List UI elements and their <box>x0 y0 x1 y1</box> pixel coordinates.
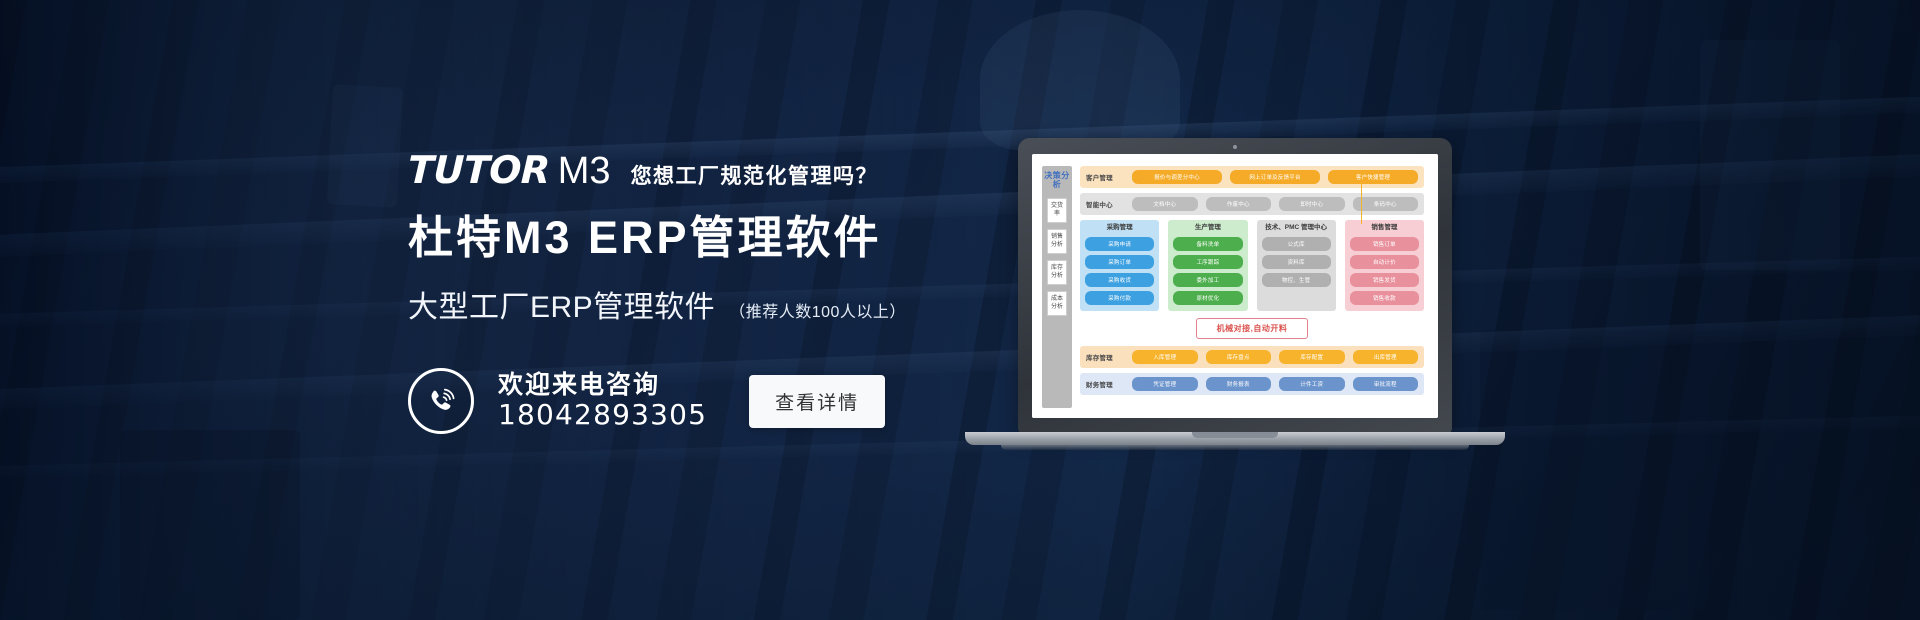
erp-chip: 财务报表 <box>1206 377 1272 391</box>
erp-chip-group: 报价与调差分中心 网上订单及反馈平台 客户快捷管理 <box>1132 170 1418 184</box>
banner-content: TUTOR M3 您想工厂规范化管理吗？ 杜特M3 ERP管理软件 大型工厂ER… <box>0 0 1920 620</box>
erp-chip: 库存盘点 <box>1206 350 1272 364</box>
page-title: 杜特M3 ERP管理软件 <box>408 211 1048 264</box>
erp-module-item: 采购订单 <box>1085 255 1154 269</box>
logo-wordmark: TUTOR <box>407 148 550 192</box>
erp-row-label: 智能中心 <box>1086 199 1124 209</box>
laptop-lid: 决策分析 交货率 销售分析 库存分析 成本分析 客户管理 报价与调差分 <box>1018 138 1452 434</box>
phone-number[interactable]: 18042893305 <box>498 399 707 430</box>
erp-module-item: 物控、生管 <box>1262 273 1331 287</box>
brand-tagline: 您想工厂规范化管理吗？ <box>631 160 879 190</box>
erp-chip: 网上订单及反馈平台 <box>1230 170 1320 184</box>
subhead-main-text: 大型工厂ERP管理软件 <box>408 282 715 326</box>
erp-row-customer: 客户管理 报价与调差分中心 网上订单及反馈平台 客户快捷管理 <box>1080 166 1424 188</box>
hero-banner: TUTOR M3 您想工厂规范化管理吗？ 杜特M3 ERP管理软件 大型工厂ER… <box>0 0 1920 620</box>
phone-label: 欢迎来电咨询 <box>498 371 707 399</box>
cta-row: 欢迎来电咨询 18042893305 查看详情 <box>408 368 1048 434</box>
erp-chip-group: 凭证管理 财务报表 计件工资 审批流程 <box>1132 377 1418 391</box>
erp-chip: 入库管理 <box>1132 350 1198 364</box>
hero-subhead: 大型工厂ERP管理软件 （推荐人数100人以上） <box>408 282 1048 326</box>
erp-column-title: 技术、PMC 管理中心 <box>1262 224 1331 232</box>
hero-copy: TUTOR M3 您想工厂规范化管理吗？ 杜特M3 ERP管理软件 大型工厂ER… <box>408 148 1048 434</box>
erp-row-label: 库存管理 <box>1086 352 1124 362</box>
erp-rail-item: 库存分析 <box>1047 260 1067 285</box>
subhead-note-text: （推荐人数100人以上） <box>729 298 906 322</box>
erp-column-purchase: 采购管理 采购申请 采购订单 采购收货 采购付款 <box>1080 220 1159 311</box>
erp-chip: 条码中心 <box>1353 197 1419 211</box>
erp-module-columns: 采购管理 采购申请 采购订单 采购收货 采购付款 生产管理 备料洗单 工序跟踪 <box>1080 220 1424 311</box>
erp-rail-title: 决策分析 <box>1042 169 1072 192</box>
brand-eyebrow: TUTOR M3 您想工厂规范化管理吗？ <box>408 148 1048 193</box>
erp-module-item: 工序跟踪 <box>1173 255 1242 269</box>
erp-flow-arrow <box>1361 182 1363 224</box>
erp-chip: 即时中心 <box>1279 197 1345 211</box>
erp-module-item: 自动计价 <box>1350 255 1419 269</box>
erp-module-item: 采购收货 <box>1085 273 1154 287</box>
erp-module-item: 销售订单 <box>1350 237 1419 251</box>
erp-rail-item: 成本分析 <box>1047 291 1067 316</box>
erp-module-item: 销售收款 <box>1350 291 1419 305</box>
erp-chip-group: 文档中心 作废中心 即时中心 条码中心 <box>1132 197 1418 211</box>
erp-callout-banner: 机械对接,自动开料 <box>1196 318 1309 339</box>
erp-row-stock: 库存管理 入库管理 库存盘点 库存配置 出库管理 <box>1080 346 1424 368</box>
erp-rail-item: 销售分析 <box>1047 229 1067 254</box>
phone-text-block: 欢迎来电咨询 18042893305 <box>498 371 707 430</box>
erp-module-item: 采购付款 <box>1085 291 1154 305</box>
laptop-mockup: 决策分析 交货率 销售分析 库存分析 成本分析 客户管理 报价与调差分 <box>965 138 1505 468</box>
erp-column-title: 采购管理 <box>1085 224 1154 232</box>
erp-module-item: 销售发货 <box>1350 273 1419 287</box>
erp-main-area: 客户管理 报价与调差分中心 网上订单及反馈平台 客户快捷管理 智能中心 <box>1072 166 1424 408</box>
erp-column-production: 生产管理 备料洗单 工序跟踪 委外加工 原材优化 <box>1168 220 1247 311</box>
erp-module-item: 采购申请 <box>1085 237 1154 251</box>
erp-row-smart-center: 智能中心 文档中心 作废中心 即时中心 条码中心 <box>1080 193 1424 215</box>
erp-module-item: 资料库 <box>1262 255 1331 269</box>
erp-module-item: 公式库 <box>1262 237 1331 251</box>
erp-row-finance: 财务管理 凭证管理 财务报表 计件工资 审批流程 <box>1080 373 1424 395</box>
erp-rail-item: 交货率 <box>1047 198 1067 223</box>
erp-chip: 文档中心 <box>1132 197 1198 211</box>
erp-chip: 库存配置 <box>1279 350 1345 364</box>
erp-row-label: 客户管理 <box>1086 172 1124 182</box>
logo-product-m3: M3 <box>558 150 611 193</box>
erp-architecture-diagram: 决策分析 交货率 销售分析 库存分析 成本分析 客户管理 报价与调差分 <box>1032 154 1438 418</box>
erp-chip: 客户快捷管理 <box>1328 170 1418 184</box>
erp-column-title: 生产管理 <box>1173 224 1242 232</box>
erp-row-label: 财务管理 <box>1086 379 1124 389</box>
laptop-notch <box>1192 432 1278 438</box>
erp-column-title: 销售管理 <box>1350 224 1419 232</box>
erp-chip: 作废中心 <box>1206 197 1272 211</box>
erp-chip: 报价与调差分中心 <box>1132 170 1222 184</box>
erp-module-item: 委外加工 <box>1173 273 1242 287</box>
erp-chip: 凭证管理 <box>1132 377 1198 391</box>
webcam-dot <box>1233 145 1237 149</box>
erp-decision-rail: 决策分析 交货率 销售分析 库存分析 成本分析 <box>1042 166 1072 408</box>
erp-chip: 审批流程 <box>1353 377 1419 391</box>
erp-column-tech-pmc: 技术、PMC 管理中心 公式库 资料库 物控、生管 <box>1257 220 1336 311</box>
erp-column-sales: 销售管理 销售订单 自动计价 销售发货 销售收款 <box>1345 220 1424 311</box>
erp-module-item: 原材优化 <box>1173 291 1242 305</box>
erp-chip: 计件工资 <box>1279 377 1345 391</box>
phone-circle-icon <box>408 368 474 434</box>
laptop-foot <box>1001 445 1469 450</box>
erp-chip: 出库管理 <box>1353 350 1419 364</box>
erp-chip-group: 入库管理 库存盘点 库存配置 出库管理 <box>1132 350 1418 364</box>
view-details-button[interactable]: 查看详情 <box>749 375 885 428</box>
erp-module-item: 备料洗单 <box>1173 237 1242 251</box>
laptop-screen: 决策分析 交货率 销售分析 库存分析 成本分析 客户管理 报价与调差分 <box>1032 154 1438 418</box>
